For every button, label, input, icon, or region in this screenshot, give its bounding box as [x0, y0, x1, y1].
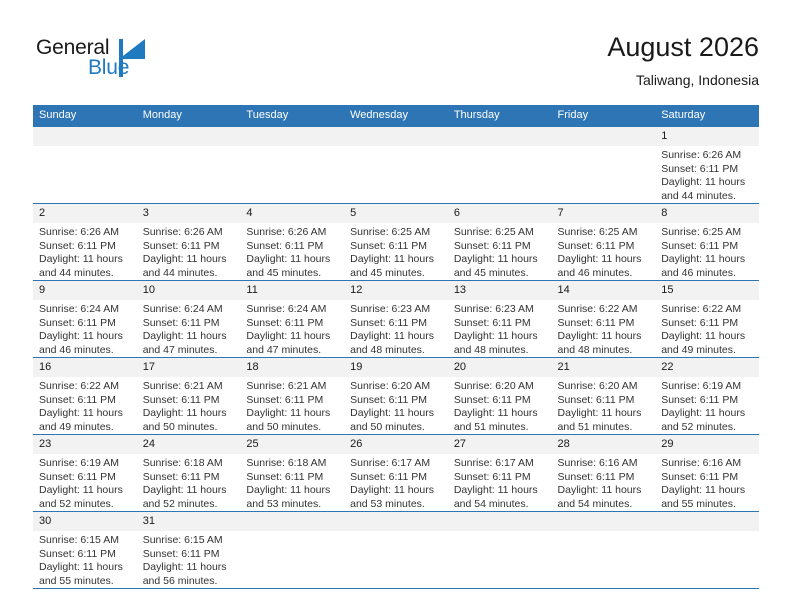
day-details: Sunrise: 6:15 AMSunset: 6:11 PMDaylight:… — [137, 531, 241, 588]
calendar-day-cell-empty — [344, 512, 448, 589]
calendar-day-cell[interactable]: 11Sunrise: 6:24 AMSunset: 6:11 PMDayligh… — [240, 281, 344, 358]
daylight-text-line2: and 52 minutes. — [39, 498, 131, 512]
day-details: Sunrise: 6:16 AMSunset: 6:11 PMDaylight:… — [655, 454, 759, 511]
sunset-text: Sunset: 6:11 PM — [454, 394, 546, 408]
day-number — [240, 127, 344, 146]
sunset-text: Sunset: 6:11 PM — [454, 471, 546, 485]
calendar-day-cell-empty — [240, 512, 344, 589]
calendar-day-cell-empty — [33, 127, 137, 204]
day-number — [448, 127, 552, 146]
day-number: 8 — [655, 204, 759, 223]
daylight-text-line2: and 45 minutes. — [350, 267, 442, 281]
sunrise-text: Sunrise: 6:15 AM — [39, 534, 131, 548]
daylight-text-line1: Daylight: 11 hours — [350, 407, 442, 421]
calendar-body: 1Sunrise: 6:26 AMSunset: 6:11 PMDaylight… — [33, 127, 759, 589]
day-number: 11 — [240, 281, 344, 300]
calendar-week-row: 16Sunrise: 6:22 AMSunset: 6:11 PMDayligh… — [33, 358, 759, 435]
day-details: Sunrise: 6:26 AMSunset: 6:11 PMDaylight:… — [655, 146, 759, 203]
day-number: 23 — [33, 435, 137, 454]
calendar-day-cell[interactable]: 5Sunrise: 6:25 AMSunset: 6:11 PMDaylight… — [344, 204, 448, 281]
weekday-header-tuesday: Tuesday — [240, 105, 344, 127]
sunset-text: Sunset: 6:11 PM — [661, 471, 753, 485]
daylight-text-line2: and 55 minutes. — [661, 498, 753, 512]
weekday-header-monday: Monday — [137, 105, 241, 127]
sunrise-text: Sunrise: 6:19 AM — [661, 380, 753, 394]
sunrise-text: Sunrise: 6:24 AM — [246, 303, 338, 317]
calendar-day-cell[interactable]: 7Sunrise: 6:25 AMSunset: 6:11 PMDaylight… — [552, 204, 656, 281]
calendar-day-cell[interactable]: 15Sunrise: 6:22 AMSunset: 6:11 PMDayligh… — [655, 281, 759, 358]
day-details: Sunrise: 6:24 AMSunset: 6:11 PMDaylight:… — [137, 300, 241, 357]
sunrise-text: Sunrise: 6:25 AM — [558, 226, 650, 240]
sunrise-text: Sunrise: 6:16 AM — [558, 457, 650, 471]
daylight-text-line1: Daylight: 11 hours — [39, 561, 131, 575]
daylight-text-line1: Daylight: 11 hours — [246, 484, 338, 498]
calendar-day-cell[interactable]: 13Sunrise: 6:23 AMSunset: 6:11 PMDayligh… — [448, 281, 552, 358]
daylight-text-line2: and 47 minutes. — [143, 344, 235, 358]
page-subtitle-location: Taliwang, Indonesia — [607, 70, 759, 90]
weekday-header-thursday: Thursday — [448, 105, 552, 127]
general-blue-logo[interactable]: General Blue — [36, 36, 186, 88]
daylight-text-line2: and 46 minutes. — [39, 344, 131, 358]
daylight-text-line2: and 51 minutes. — [558, 421, 650, 435]
day-number: 21 — [552, 358, 656, 377]
sunset-text: Sunset: 6:11 PM — [454, 240, 546, 254]
day-details: Sunrise: 6:26 AMSunset: 6:11 PMDaylight:… — [33, 223, 137, 280]
sunset-text: Sunset: 6:11 PM — [246, 394, 338, 408]
day-details: Sunrise: 6:25 AMSunset: 6:11 PMDaylight:… — [552, 223, 656, 280]
calendar-day-cell[interactable]: 6Sunrise: 6:25 AMSunset: 6:11 PMDaylight… — [448, 204, 552, 281]
day-number: 6 — [448, 204, 552, 223]
day-details: Sunrise: 6:19 AMSunset: 6:11 PMDaylight:… — [33, 454, 137, 511]
day-details: Sunrise: 6:18 AMSunset: 6:11 PMDaylight:… — [240, 454, 344, 511]
calendar-day-cell[interactable]: 26Sunrise: 6:17 AMSunset: 6:11 PMDayligh… — [344, 435, 448, 512]
daylight-text-line2: and 49 minutes. — [661, 344, 753, 358]
daylight-text-line2: and 50 minutes. — [350, 421, 442, 435]
daylight-text-line2: and 46 minutes. — [558, 267, 650, 281]
sunrise-text: Sunrise: 6:20 AM — [454, 380, 546, 394]
sunset-text: Sunset: 6:11 PM — [350, 394, 442, 408]
calendar-day-cell-empty — [448, 127, 552, 204]
sunset-text: Sunset: 6:11 PM — [558, 317, 650, 331]
calendar-day-cell-empty — [344, 127, 448, 204]
day-number — [655, 512, 759, 531]
day-number — [33, 127, 137, 146]
sunset-text: Sunset: 6:11 PM — [350, 317, 442, 331]
daylight-text-line2: and 47 minutes. — [246, 344, 338, 358]
sunset-text: Sunset: 6:11 PM — [39, 471, 131, 485]
calendar-day-cell[interactable]: 3Sunrise: 6:26 AMSunset: 6:11 PMDaylight… — [137, 204, 241, 281]
daylight-text-line1: Daylight: 11 hours — [454, 253, 546, 267]
sunset-text: Sunset: 6:11 PM — [143, 471, 235, 485]
daylight-text-line1: Daylight: 11 hours — [246, 330, 338, 344]
daylight-text-line1: Daylight: 11 hours — [143, 484, 235, 498]
day-number: 4 — [240, 204, 344, 223]
daylight-text-line1: Daylight: 11 hours — [558, 484, 650, 498]
sunset-text: Sunset: 6:11 PM — [39, 240, 131, 254]
weekday-header-row: Sunday Monday Tuesday Wednesday Thursday… — [33, 105, 759, 127]
daylight-text-line1: Daylight: 11 hours — [39, 253, 131, 267]
daylight-text-line1: Daylight: 11 hours — [39, 407, 131, 421]
day-details: Sunrise: 6:16 AMSunset: 6:11 PMDaylight:… — [552, 454, 656, 511]
sunrise-text: Sunrise: 6:22 AM — [39, 380, 131, 394]
calendar-day-cell-empty — [552, 512, 656, 589]
day-details: Sunrise: 6:15 AMSunset: 6:11 PMDaylight:… — [33, 531, 137, 588]
day-number — [552, 512, 656, 531]
calendar-day-cell[interactable]: 1Sunrise: 6:26 AMSunset: 6:11 PMDaylight… — [655, 127, 759, 204]
day-number: 18 — [240, 358, 344, 377]
day-number: 19 — [344, 358, 448, 377]
sunrise-text: Sunrise: 6:19 AM — [39, 457, 131, 471]
calendar-day-cell[interactable]: 27Sunrise: 6:17 AMSunset: 6:11 PMDayligh… — [448, 435, 552, 512]
sunset-text: Sunset: 6:11 PM — [39, 317, 131, 331]
sunrise-text: Sunrise: 6:26 AM — [39, 226, 131, 240]
calendar-week-row: 1Sunrise: 6:26 AMSunset: 6:11 PMDaylight… — [33, 127, 759, 204]
sunset-text: Sunset: 6:11 PM — [39, 394, 131, 408]
daylight-text-line2: and 44 minutes. — [39, 267, 131, 281]
calendar-day-cell[interactable]: 23Sunrise: 6:19 AMSunset: 6:11 PMDayligh… — [33, 435, 137, 512]
calendar-day-cell[interactable]: 12Sunrise: 6:23 AMSunset: 6:11 PMDayligh… — [344, 281, 448, 358]
sunset-text: Sunset: 6:11 PM — [661, 317, 753, 331]
calendar-week-row: 9Sunrise: 6:24 AMSunset: 6:11 PMDaylight… — [33, 281, 759, 358]
calendar-day-cell[interactable]: 14Sunrise: 6:22 AMSunset: 6:11 PMDayligh… — [552, 281, 656, 358]
daylight-text-line2: and 44 minutes. — [143, 267, 235, 281]
day-details: Sunrise: 6:19 AMSunset: 6:11 PMDaylight:… — [655, 377, 759, 434]
day-number: 2 — [33, 204, 137, 223]
daylight-text-line2: and 51 minutes. — [454, 421, 546, 435]
calendar-day-cell[interactable]: 21Sunrise: 6:20 AMSunset: 6:11 PMDayligh… — [552, 358, 656, 435]
calendar-day-cell[interactable]: 19Sunrise: 6:20 AMSunset: 6:11 PMDayligh… — [344, 358, 448, 435]
daylight-text-line1: Daylight: 11 hours — [661, 484, 753, 498]
daylight-text-line2: and 50 minutes. — [246, 421, 338, 435]
daylight-text-line1: Daylight: 11 hours — [143, 253, 235, 267]
day-details: Sunrise: 6:21 AMSunset: 6:11 PMDaylight:… — [137, 377, 241, 434]
day-details: Sunrise: 6:20 AMSunset: 6:11 PMDaylight:… — [552, 377, 656, 434]
day-details: Sunrise: 6:23 AMSunset: 6:11 PMDaylight:… — [448, 300, 552, 357]
day-number — [344, 512, 448, 531]
daylight-text-line2: and 48 minutes. — [350, 344, 442, 358]
day-number: 26 — [344, 435, 448, 454]
daylight-text-line1: Daylight: 11 hours — [143, 330, 235, 344]
daylight-text-line1: Daylight: 11 hours — [39, 330, 131, 344]
sunrise-text: Sunrise: 6:20 AM — [350, 380, 442, 394]
daylight-text-line2: and 53 minutes. — [246, 498, 338, 512]
calendar-week-row: 23Sunrise: 6:19 AMSunset: 6:11 PMDayligh… — [33, 435, 759, 512]
sunrise-text: Sunrise: 6:18 AM — [143, 457, 235, 471]
daylight-text-line1: Daylight: 11 hours — [350, 484, 442, 498]
calendar-day-cell-empty — [448, 512, 552, 589]
sunset-text: Sunset: 6:11 PM — [661, 240, 753, 254]
sunrise-text: Sunrise: 6:22 AM — [558, 303, 650, 317]
calendar-day-cell[interactable]: 20Sunrise: 6:20 AMSunset: 6:11 PMDayligh… — [448, 358, 552, 435]
day-number: 24 — [137, 435, 241, 454]
daylight-text-line1: Daylight: 11 hours — [350, 253, 442, 267]
calendar-day-cell[interactable]: 9Sunrise: 6:24 AMSunset: 6:11 PMDaylight… — [33, 281, 137, 358]
day-details: Sunrise: 6:25 AMSunset: 6:11 PMDaylight:… — [655, 223, 759, 280]
calendar-day-cell[interactable]: 24Sunrise: 6:18 AMSunset: 6:11 PMDayligh… — [137, 435, 241, 512]
sunset-text: Sunset: 6:11 PM — [246, 471, 338, 485]
daylight-text-line1: Daylight: 11 hours — [350, 330, 442, 344]
calendar-week-row: 30Sunrise: 6:15 AMSunset: 6:11 PMDayligh… — [33, 512, 759, 589]
day-number: 10 — [137, 281, 241, 300]
daylight-text-line1: Daylight: 11 hours — [39, 484, 131, 498]
sunrise-text: Sunrise: 6:17 AM — [454, 457, 546, 471]
day-number — [240, 512, 344, 531]
day-details: Sunrise: 6:25 AMSunset: 6:11 PMDaylight:… — [344, 223, 448, 280]
daylight-text-line2: and 52 minutes. — [661, 421, 753, 435]
day-number: 15 — [655, 281, 759, 300]
day-number: 16 — [33, 358, 137, 377]
day-number: 9 — [33, 281, 137, 300]
day-details: Sunrise: 6:24 AMSunset: 6:11 PMDaylight:… — [33, 300, 137, 357]
daylight-text-line1: Daylight: 11 hours — [454, 330, 546, 344]
calendar-day-cell[interactable]: 31Sunrise: 6:15 AMSunset: 6:11 PMDayligh… — [137, 512, 241, 589]
daylight-text-line2: and 50 minutes. — [143, 421, 235, 435]
sunrise-text: Sunrise: 6:18 AM — [246, 457, 338, 471]
sunset-text: Sunset: 6:11 PM — [558, 394, 650, 408]
day-number: 3 — [137, 204, 241, 223]
calendar-day-cell[interactable]: 17Sunrise: 6:21 AMSunset: 6:11 PMDayligh… — [137, 358, 241, 435]
sunrise-text: Sunrise: 6:24 AM — [143, 303, 235, 317]
day-number: 29 — [655, 435, 759, 454]
daylight-text-line2: and 55 minutes. — [39, 575, 131, 589]
day-details: Sunrise: 6:24 AMSunset: 6:11 PMDaylight:… — [240, 300, 344, 357]
day-details: Sunrise: 6:22 AMSunset: 6:11 PMDaylight:… — [33, 377, 137, 434]
daylight-text-line1: Daylight: 11 hours — [661, 253, 753, 267]
day-details: Sunrise: 6:22 AMSunset: 6:11 PMDaylight:… — [552, 300, 656, 357]
daylight-text-line1: Daylight: 11 hours — [454, 484, 546, 498]
sunset-text: Sunset: 6:11 PM — [661, 394, 753, 408]
daylight-text-line2: and 54 minutes. — [454, 498, 546, 512]
daylight-text-line2: and 48 minutes. — [454, 344, 546, 358]
day-number — [344, 127, 448, 146]
daylight-text-line2: and 49 minutes. — [39, 421, 131, 435]
daylight-text-line2: and 56 minutes. — [143, 575, 235, 589]
sunset-text: Sunset: 6:11 PM — [350, 471, 442, 485]
daylight-text-line1: Daylight: 11 hours — [246, 407, 338, 421]
sunset-text: Sunset: 6:11 PM — [350, 240, 442, 254]
day-details: Sunrise: 6:17 AMSunset: 6:11 PMDaylight:… — [448, 454, 552, 511]
day-number: 27 — [448, 435, 552, 454]
sunset-text: Sunset: 6:11 PM — [143, 394, 235, 408]
sunrise-text: Sunrise: 6:20 AM — [558, 380, 650, 394]
daylight-text-line2: and 44 minutes. — [661, 190, 753, 204]
daylight-text-line2: and 45 minutes. — [246, 267, 338, 281]
day-number: 31 — [137, 512, 241, 531]
sunrise-text: Sunrise: 6:15 AM — [143, 534, 235, 548]
sunrise-text: Sunrise: 6:25 AM — [350, 226, 442, 240]
daylight-text-line1: Daylight: 11 hours — [454, 407, 546, 421]
calendar-day-cell[interactable]: 25Sunrise: 6:18 AMSunset: 6:11 PMDayligh… — [240, 435, 344, 512]
daylight-text-line2: and 52 minutes. — [143, 498, 235, 512]
daylight-text-line1: Daylight: 11 hours — [246, 253, 338, 267]
day-number: 28 — [552, 435, 656, 454]
sunset-text: Sunset: 6:11 PM — [454, 317, 546, 331]
daylight-text-line1: Daylight: 11 hours — [661, 330, 753, 344]
day-number: 13 — [448, 281, 552, 300]
calendar-day-cell-empty — [240, 127, 344, 204]
page-header: General Blue August 2026 Taliwang, Indon… — [33, 30, 759, 98]
sunset-text: Sunset: 6:11 PM — [246, 317, 338, 331]
daylight-text-line1: Daylight: 11 hours — [558, 253, 650, 267]
calendar-week-row: 2Sunrise: 6:26 AMSunset: 6:11 PMDaylight… — [33, 204, 759, 281]
sunset-text: Sunset: 6:11 PM — [246, 240, 338, 254]
sunrise-text: Sunrise: 6:22 AM — [661, 303, 753, 317]
weekday-header-wednesday: Wednesday — [344, 105, 448, 127]
day-details: Sunrise: 6:20 AMSunset: 6:11 PMDaylight:… — [344, 377, 448, 434]
sunset-text: Sunset: 6:11 PM — [143, 317, 235, 331]
daylight-text-line1: Daylight: 11 hours — [661, 176, 753, 190]
day-number — [552, 127, 656, 146]
weekday-header-friday: Friday — [552, 105, 656, 127]
day-number: 5 — [344, 204, 448, 223]
calendar-day-cell[interactable]: 2Sunrise: 6:26 AMSunset: 6:11 PMDaylight… — [33, 204, 137, 281]
sunrise-text: Sunrise: 6:25 AM — [661, 226, 753, 240]
sunrise-text: Sunrise: 6:26 AM — [246, 226, 338, 240]
weekday-header-saturday: Saturday — [655, 105, 759, 127]
calendar-day-cell[interactable]: 30Sunrise: 6:15 AMSunset: 6:11 PMDayligh… — [33, 512, 137, 589]
sunrise-text: Sunrise: 6:26 AM — [143, 226, 235, 240]
daylight-text-line2: and 53 minutes. — [350, 498, 442, 512]
day-details: Sunrise: 6:21 AMSunset: 6:11 PMDaylight:… — [240, 377, 344, 434]
day-number: 7 — [552, 204, 656, 223]
day-number: 20 — [448, 358, 552, 377]
daylight-text-line1: Daylight: 11 hours — [661, 407, 753, 421]
calendar-day-cell[interactable]: 18Sunrise: 6:21 AMSunset: 6:11 PMDayligh… — [240, 358, 344, 435]
page-title: August 2026 — [607, 30, 759, 64]
day-details: Sunrise: 6:18 AMSunset: 6:11 PMDaylight:… — [137, 454, 241, 511]
sunrise-text: Sunrise: 6:16 AM — [661, 457, 753, 471]
calendar-day-cell[interactable]: 10Sunrise: 6:24 AMSunset: 6:11 PMDayligh… — [137, 281, 241, 358]
day-number: 12 — [344, 281, 448, 300]
sunset-text: Sunset: 6:11 PM — [558, 471, 650, 485]
day-number: 22 — [655, 358, 759, 377]
calendar-day-cell[interactable]: 16Sunrise: 6:22 AMSunset: 6:11 PMDayligh… — [33, 358, 137, 435]
sunrise-text: Sunrise: 6:21 AM — [143, 380, 235, 394]
day-number — [137, 127, 241, 146]
sunset-text: Sunset: 6:11 PM — [558, 240, 650, 254]
logo-text-blue: Blue — [88, 56, 129, 80]
calendar-day-cell[interactable]: 4Sunrise: 6:26 AMSunset: 6:11 PMDaylight… — [240, 204, 344, 281]
calendar-day-cell-empty — [655, 512, 759, 589]
calendar-day-cell-empty — [137, 127, 241, 204]
day-details: Sunrise: 6:17 AMSunset: 6:11 PMDaylight:… — [344, 454, 448, 511]
sunrise-text: Sunrise: 6:23 AM — [350, 303, 442, 317]
calendar-day-cell[interactable]: 29Sunrise: 6:16 AMSunset: 6:11 PMDayligh… — [655, 435, 759, 512]
day-number: 17 — [137, 358, 241, 377]
daylight-text-line1: Daylight: 11 hours — [558, 407, 650, 421]
sunrise-text: Sunrise: 6:24 AM — [39, 303, 131, 317]
sunrise-text: Sunrise: 6:21 AM — [246, 380, 338, 394]
day-details: Sunrise: 6:23 AMSunset: 6:11 PMDaylight:… — [344, 300, 448, 357]
daylight-text-line2: and 46 minutes. — [661, 267, 753, 281]
daylight-text-line2: and 54 minutes. — [558, 498, 650, 512]
day-number: 1 — [655, 127, 759, 146]
title-block: August 2026 Taliwang, Indonesia — [607, 30, 759, 90]
calendar-day-cell[interactable]: 28Sunrise: 6:16 AMSunset: 6:11 PMDayligh… — [552, 435, 656, 512]
day-number: 14 — [552, 281, 656, 300]
daylight-text-line2: and 45 minutes. — [454, 267, 546, 281]
daylight-text-line1: Daylight: 11 hours — [558, 330, 650, 344]
month-calendar: Sunday Monday Tuesday Wednesday Thursday… — [33, 105, 759, 589]
day-number: 25 — [240, 435, 344, 454]
weekday-header-sunday: Sunday — [33, 105, 137, 127]
day-details: Sunrise: 6:22 AMSunset: 6:11 PMDaylight:… — [655, 300, 759, 357]
sunset-text: Sunset: 6:11 PM — [143, 548, 235, 562]
calendar-day-cell-empty — [552, 127, 656, 204]
calendar-day-cell[interactable]: 8Sunrise: 6:25 AMSunset: 6:11 PMDaylight… — [655, 204, 759, 281]
sunset-text: Sunset: 6:11 PM — [661, 163, 753, 177]
sunrise-text: Sunrise: 6:17 AM — [350, 457, 442, 471]
calendar-day-cell[interactable]: 22Sunrise: 6:19 AMSunset: 6:11 PMDayligh… — [655, 358, 759, 435]
sunset-text: Sunset: 6:11 PM — [143, 240, 235, 254]
day-details: Sunrise: 6:26 AMSunset: 6:11 PMDaylight:… — [137, 223, 241, 280]
day-details: Sunrise: 6:20 AMSunset: 6:11 PMDaylight:… — [448, 377, 552, 434]
sunrise-text: Sunrise: 6:25 AM — [454, 226, 546, 240]
sunrise-text: Sunrise: 6:26 AM — [661, 149, 753, 163]
sunset-text: Sunset: 6:11 PM — [39, 548, 131, 562]
day-number: 30 — [33, 512, 137, 531]
daylight-text-line2: and 48 minutes. — [558, 344, 650, 358]
sunrise-text: Sunrise: 6:23 AM — [454, 303, 546, 317]
day-number — [448, 512, 552, 531]
daylight-text-line1: Daylight: 11 hours — [143, 561, 235, 575]
day-details: Sunrise: 6:25 AMSunset: 6:11 PMDaylight:… — [448, 223, 552, 280]
day-details: Sunrise: 6:26 AMSunset: 6:11 PMDaylight:… — [240, 223, 344, 280]
daylight-text-line1: Daylight: 11 hours — [143, 407, 235, 421]
calendar-page: General Blue August 2026 Taliwang, Indon… — [0, 0, 792, 612]
